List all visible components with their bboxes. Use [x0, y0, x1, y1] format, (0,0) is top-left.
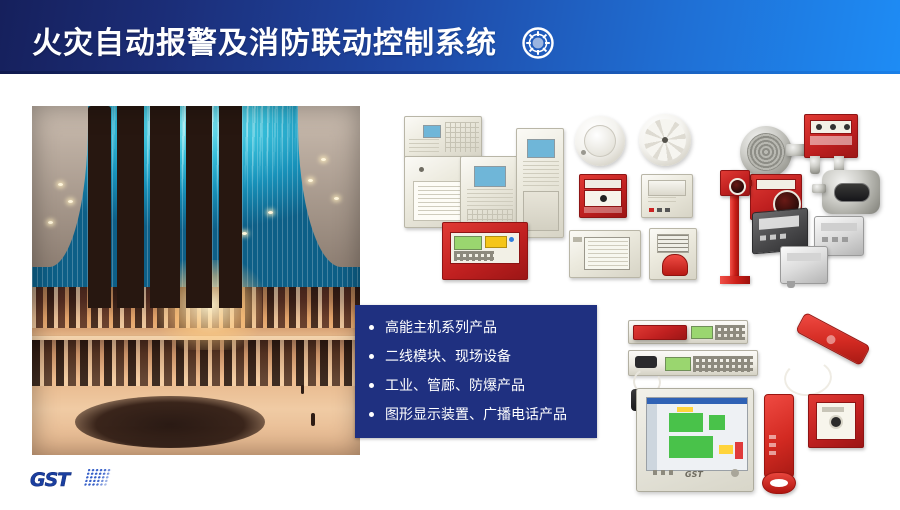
- exproof-box-led: [816, 124, 822, 130]
- list-item: 高能主机系列产品: [355, 313, 597, 342]
- wall-panel-zone-rows: [467, 189, 513, 207]
- junction-box-label: [821, 223, 857, 231]
- call-point-button: [600, 195, 607, 202]
- strobe-red-dome: [662, 254, 688, 276]
- beam-detector-lens-window: [834, 183, 870, 202]
- zone-display-label: [573, 237, 582, 242]
- exproof-detector-grille: [747, 133, 785, 171]
- red-panel-alarm-lamp: [485, 236, 507, 248]
- gst-logo: GST: [30, 468, 114, 492]
- bullet-label: 二线模块、现场设备: [385, 350, 511, 364]
- product-wall-panel: [460, 156, 518, 228]
- zone-display-text: [588, 241, 628, 269]
- product-red-control-panel: [442, 222, 528, 280]
- product-exproof-beam-detector: [822, 170, 880, 214]
- floorplan-side-panel: [647, 404, 657, 470]
- product-category-panel: 高能主机系列产品 二线模块、现场设备 工业、管廊、防爆产品 图形显示装置、广播电…: [355, 305, 597, 438]
- photo-vignette: [32, 106, 360, 455]
- controller-led: [780, 233, 786, 239]
- console-screw: [419, 167, 424, 172]
- wall-telephone-button: [825, 334, 837, 346]
- product-group-explosion-proof: [718, 112, 896, 287]
- graphic-display-buttons: [653, 470, 677, 475]
- product-telephone-jack: [808, 394, 864, 448]
- product-smoke-detector: [575, 116, 625, 166]
- alarm-post-base: [720, 276, 750, 284]
- exchange-keypad: [693, 356, 753, 372]
- exproof-box-led: [830, 124, 836, 130]
- mall-interior-photo: [32, 106, 360, 455]
- exproof-box-nameplate: [810, 136, 852, 145]
- product-io-module: [641, 174, 693, 218]
- bullet-label: 高能主机系列产品: [385, 321, 497, 335]
- gst-logo-text: GST: [30, 469, 69, 491]
- extension-handset-loop: [762, 472, 796, 494]
- alarm-post-button: [729, 178, 746, 195]
- bullet-dot-icon: [369, 354, 374, 359]
- extension-led: [769, 451, 776, 455]
- beam-detector-conduit: [812, 184, 826, 193]
- graphic-display-screen: [646, 397, 748, 471]
- bullet-label: 图形显示装置、广播电话产品: [385, 408, 567, 422]
- extension-handset-loop-hole: [770, 479, 788, 487]
- exproof-sounder-label: [756, 179, 796, 190]
- page-title: 火灾自动报警及消防联动控制系统: [32, 18, 497, 62]
- field-box-gland: [787, 281, 795, 288]
- product-console-top: [404, 116, 482, 158]
- floorplan-highlight: [677, 407, 693, 412]
- exproof-box-indicators: [810, 120, 852, 134]
- junction-box-led: [822, 237, 828, 242]
- exchange-lcd: [665, 357, 691, 371]
- amplifier-keypad: [715, 325, 745, 340]
- slide-header: 火灾自动报警及消防联动控制系统: [0, 0, 900, 74]
- product-exproof-call-box: [804, 114, 858, 158]
- junction-box-led: [832, 237, 838, 242]
- exproof-gland: [810, 156, 820, 174]
- halftone-swoosh-icon: [84, 469, 112, 486]
- io-module-led: [649, 208, 654, 212]
- exchange-handset-rest: [635, 356, 657, 368]
- telephone-jack-socket: [831, 417, 841, 427]
- call-point-window: [584, 190, 622, 207]
- io-module-terminal-cover: [648, 180, 686, 196]
- extension-led: [769, 435, 776, 439]
- red-panel-indicator: [509, 237, 514, 242]
- product-sounder-strobe: [649, 228, 697, 280]
- product-manual-call-point: [579, 174, 627, 218]
- graphic-display-brand: GST: [685, 470, 703, 479]
- bullet-label: 工业、管廊、防爆产品: [385, 379, 525, 393]
- red-panel-face: [450, 232, 520, 264]
- bullet-dot-icon: [369, 412, 374, 417]
- wall-telephone-cord: [782, 358, 834, 399]
- io-module-label: [648, 197, 676, 205]
- junction-box-led: [842, 237, 848, 242]
- list-item: 二线模块、现场设备: [355, 342, 597, 371]
- call-point-footer: [584, 207, 622, 213]
- controller-nameplate: [759, 215, 799, 229]
- floor-cabinet-zone-rows: [523, 161, 559, 187]
- heat-detector-thermistor: [662, 137, 668, 143]
- telephone-jack-label: [822, 407, 844, 412]
- telephone-jack-face: [816, 402, 856, 440]
- controller-led: [770, 234, 776, 240]
- zone-display-lcd: [584, 237, 630, 270]
- extension-led: [769, 443, 776, 447]
- product-group-field-devices: [565, 112, 715, 287]
- io-module-led: [657, 208, 662, 212]
- product-fire-telephone-wall: [795, 312, 871, 366]
- product-field-control-box: [780, 246, 828, 284]
- wall-panel-lcd: [474, 166, 506, 187]
- list-item: 工业、管廊、防爆产品: [355, 371, 597, 400]
- smoke-detector-chamber: [584, 125, 616, 157]
- wall-panel-buttons: [467, 209, 513, 221]
- console-display: [423, 125, 441, 138]
- amplifier-lcd: [691, 326, 713, 339]
- product-fire-telephone-exchange: [628, 350, 758, 376]
- floorplan-zone: [709, 415, 725, 431]
- red-panel-lcd: [454, 236, 482, 250]
- bullet-dot-icon: [369, 383, 374, 388]
- console-label-rows: [409, 139, 439, 153]
- product-group-control-panels: [398, 112, 578, 287]
- list-item: 图形显示装置、广播电话产品: [355, 400, 597, 429]
- graphic-display-floorplan: [647, 404, 747, 470]
- floor-cabinet-lcd: [527, 139, 555, 158]
- red-panel-keypad: [454, 251, 494, 261]
- slide-root: 火灾自动报警及消防联动控制系统: [0, 0, 900, 510]
- amplifier-red-bar: [633, 325, 687, 340]
- floorplan-zone: [669, 413, 703, 431]
- exproof-detector-conduit: [786, 144, 806, 156]
- field-box-label: [787, 253, 821, 261]
- smoke-detector-led: [581, 150, 586, 155]
- io-module-led: [665, 208, 670, 212]
- floorplan-alarm-marker: [735, 442, 743, 459]
- floor-cabinet-lower-door: [523, 191, 559, 231]
- product-zone-display: [569, 230, 641, 278]
- floorplan-highlight: [719, 445, 733, 454]
- alarm-post-head: [720, 170, 750, 196]
- call-point-label: [584, 179, 622, 189]
- product-heat-detector: [639, 114, 691, 166]
- product-graphic-display-device: GST: [636, 388, 754, 492]
- console-led-grid: [445, 122, 479, 152]
- controller-led: [760, 235, 766, 241]
- product-broadcast-amplifier: [628, 320, 748, 344]
- exproof-box-led: [844, 124, 850, 130]
- sounder-grille: [657, 234, 689, 253]
- product-group-display-broadcast: GST: [628, 312, 900, 502]
- graphic-display-power-led: [731, 469, 739, 477]
- bullet-dot-icon: [369, 325, 374, 330]
- product-fire-telephone-extension: [764, 394, 794, 478]
- smoke-detector-ring-icon: [521, 26, 555, 60]
- floorplan-zone: [669, 436, 713, 458]
